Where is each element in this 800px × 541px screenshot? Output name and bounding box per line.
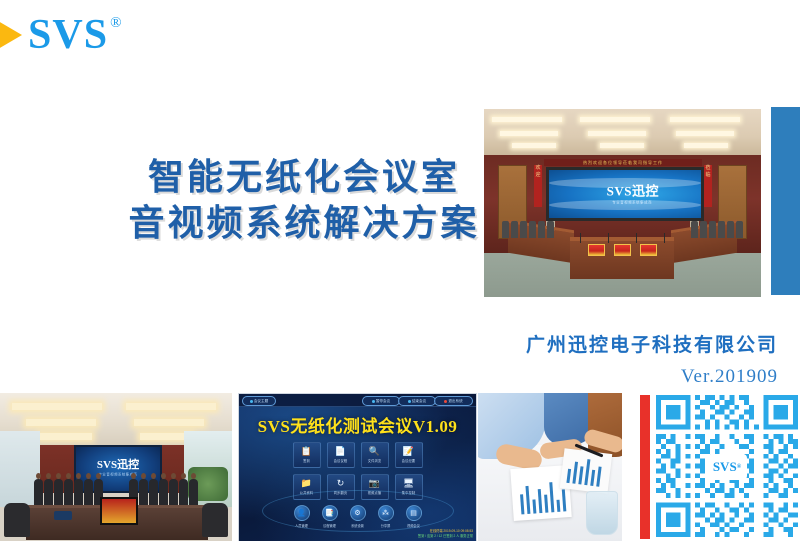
user-icon: 👤 [294,505,310,521]
company-name: 广州迅控电子科技有限公司 [526,330,778,357]
ceiling [484,109,761,155]
dock-item-settings[interactable]: ⚙ 系统设置 [350,505,366,528]
bottom-image-strip: SVS迅控 专业音视频系统集成商 会议主题 [0,393,800,541]
device-icon: 🖥 [403,479,414,488]
exit-system-button[interactable]: 退出系统 [434,396,473,406]
chair-foreground-right [202,503,228,537]
screen-sub-text: 专业音视频系统集成商 [612,199,652,204]
qr-center-logo: SVS® [707,454,747,480]
chair-foreground-left [4,503,30,537]
welcome-banner: 热烈欢迎各位领导莅临我司指导工作 [544,159,702,166]
led-screen: SVS迅控 专业音视频系统集成商 [546,167,704,221]
desk-flag-1 [588,244,605,256]
qr-code-container[interactable]: SVS® [656,395,798,539]
chart-document-2 [560,448,613,494]
app-status-bar: 在线终端 2019-09-10 09:08:53 签到 / 应到 2 / 12 … [418,529,473,539]
desk-flag-3 [640,244,657,256]
screen-brand-text: SVS迅控 [607,181,659,200]
attendees-left [34,479,103,507]
app-title: SVS无纸化测试会议V1.09 [239,412,476,437]
file-icon: 📑 [322,505,338,521]
dock-item-share[interactable]: ⁂ 分享屏 [378,505,394,528]
grid-item-signin[interactable]: 📋 签到 [293,442,321,468]
title-line-1: 智能无纸化会议室 [118,155,490,201]
svs-logo: SVS ® [0,14,121,56]
slide-cover: SVS ® 智能无纸化会议室 音视频系统解决方案 热烈欢迎各位领导莅临我司指导工… [0,0,800,541]
strip-panel-software-ui: 会议主题 暂停会议 结束会议 退出系统 SVS无纸化测试会议V1.09 📋 签到… [238,393,477,541]
clipboard-icon: 📋 [301,447,312,456]
camera-icon: 📷 [369,479,380,488]
chair-row-left [502,221,554,238]
triangle-mark-icon [0,21,22,49]
desk-flag-2 [614,244,631,256]
laptop-screen [100,497,138,525]
search-icon: 🔍 [369,447,380,456]
meeting-topic-pill[interactable]: 会议主题 [242,396,276,406]
refresh-icon: ↻ [337,479,345,488]
attendees-right [129,479,198,507]
document-icon: 📄 [335,447,346,456]
version-label: Ver.201909 [681,366,778,388]
strip-panel-qr: SVS® [628,393,800,541]
grid-item-file-browse[interactable]: 🔍 文件浏览 [361,442,389,468]
dock-item-agenda[interactable]: 📑 议程管理 [322,505,338,528]
trademark-icon: ® [110,15,121,32]
dock-item-people[interactable]: 👤 人员管理 [294,505,310,528]
strip-panel-conference-room: SVS迅控 专业音视频系统集成商 [0,393,232,541]
blue-accent-bar [771,107,800,295]
end-meeting-button[interactable]: 结束会议 [398,396,436,406]
red-accent-bar [640,395,650,539]
logo-text: SVS [28,14,108,56]
water-glass [586,491,618,535]
chair-row-right [691,221,743,238]
settings-icon: ⚙ [350,505,366,521]
side-banner-right: 莅临 [704,165,712,207]
pause-meeting-button[interactable]: 暂停会议 [362,396,400,406]
note-icon: 📝 [403,447,414,456]
dock-item-video-conf[interactable]: ▤ 视频会议 [406,505,422,528]
side-banner-left: 欢迎 [534,165,542,207]
grid-item-agenda[interactable]: 📄 会议议程 [327,442,355,468]
screen-icon: ▤ [406,505,422,521]
page-title: 智能无纸化会议室 音视频系统解决方案 [118,155,490,247]
status-line-2: 签到 / 应到 2 / 12 已签到 2 人 服务正常 [418,534,473,539]
app-dock: 👤 人员管理 📑 议程管理 ⚙ 系统设置 ⁂ 分享屏 ▤ 视频会议 [294,505,422,528]
strip-panel-business-meeting [478,393,622,541]
screen-brand-text: SVS迅控 [97,456,139,472]
grid-item-minutes[interactable]: 📝 会议纪要 [395,442,423,468]
tablet-device [54,511,72,520]
title-line-2: 音视频系统解决方案 [118,201,490,247]
share-icon: ⁂ [378,505,394,521]
hero-conference-room-image: 热烈欢迎各位领导莅临我司指导工作 欢迎 莅临 SVS迅控 专业音视频系统集成商 [483,108,762,298]
folder-icon: 📁 [301,479,312,488]
